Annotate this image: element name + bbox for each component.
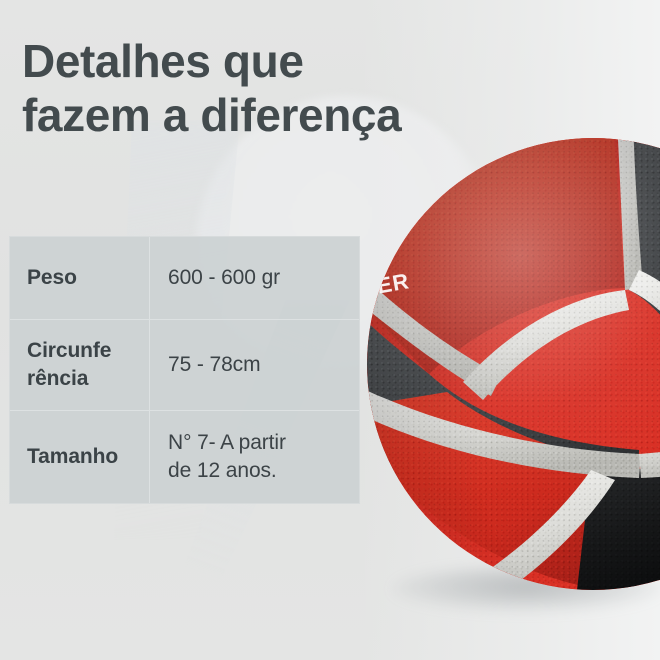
table-row: Tamanho N° 7- A partir de 12 anos. [10,411,359,503]
spec-label-circunferencia: Circunfe rência [10,320,150,410]
basketball-image: ER [367,138,660,590]
table-row: Peso 600 - 600 gr [10,237,359,320]
product-detail-card: ER Detalhes que fazem a diferença Peso 6… [0,0,660,660]
spec-label-peso: Peso [10,237,150,319]
table-row: Circunfe rência 75 - 78cm [10,320,359,411]
spec-value-peso: 600 - 600 gr [150,237,359,319]
spec-label-tamanho: Tamanho [10,411,150,503]
basketball-sphere: ER [367,138,660,590]
specification-table: Peso 600 - 600 gr Circunfe rência 75 - 7… [9,236,360,504]
spec-value-circunferencia: 75 - 78cm [150,320,359,410]
page-title: Detalhes que fazem a diferença [22,34,542,143]
spec-value-tamanho: N° 7- A partir de 12 anos. [150,411,359,503]
